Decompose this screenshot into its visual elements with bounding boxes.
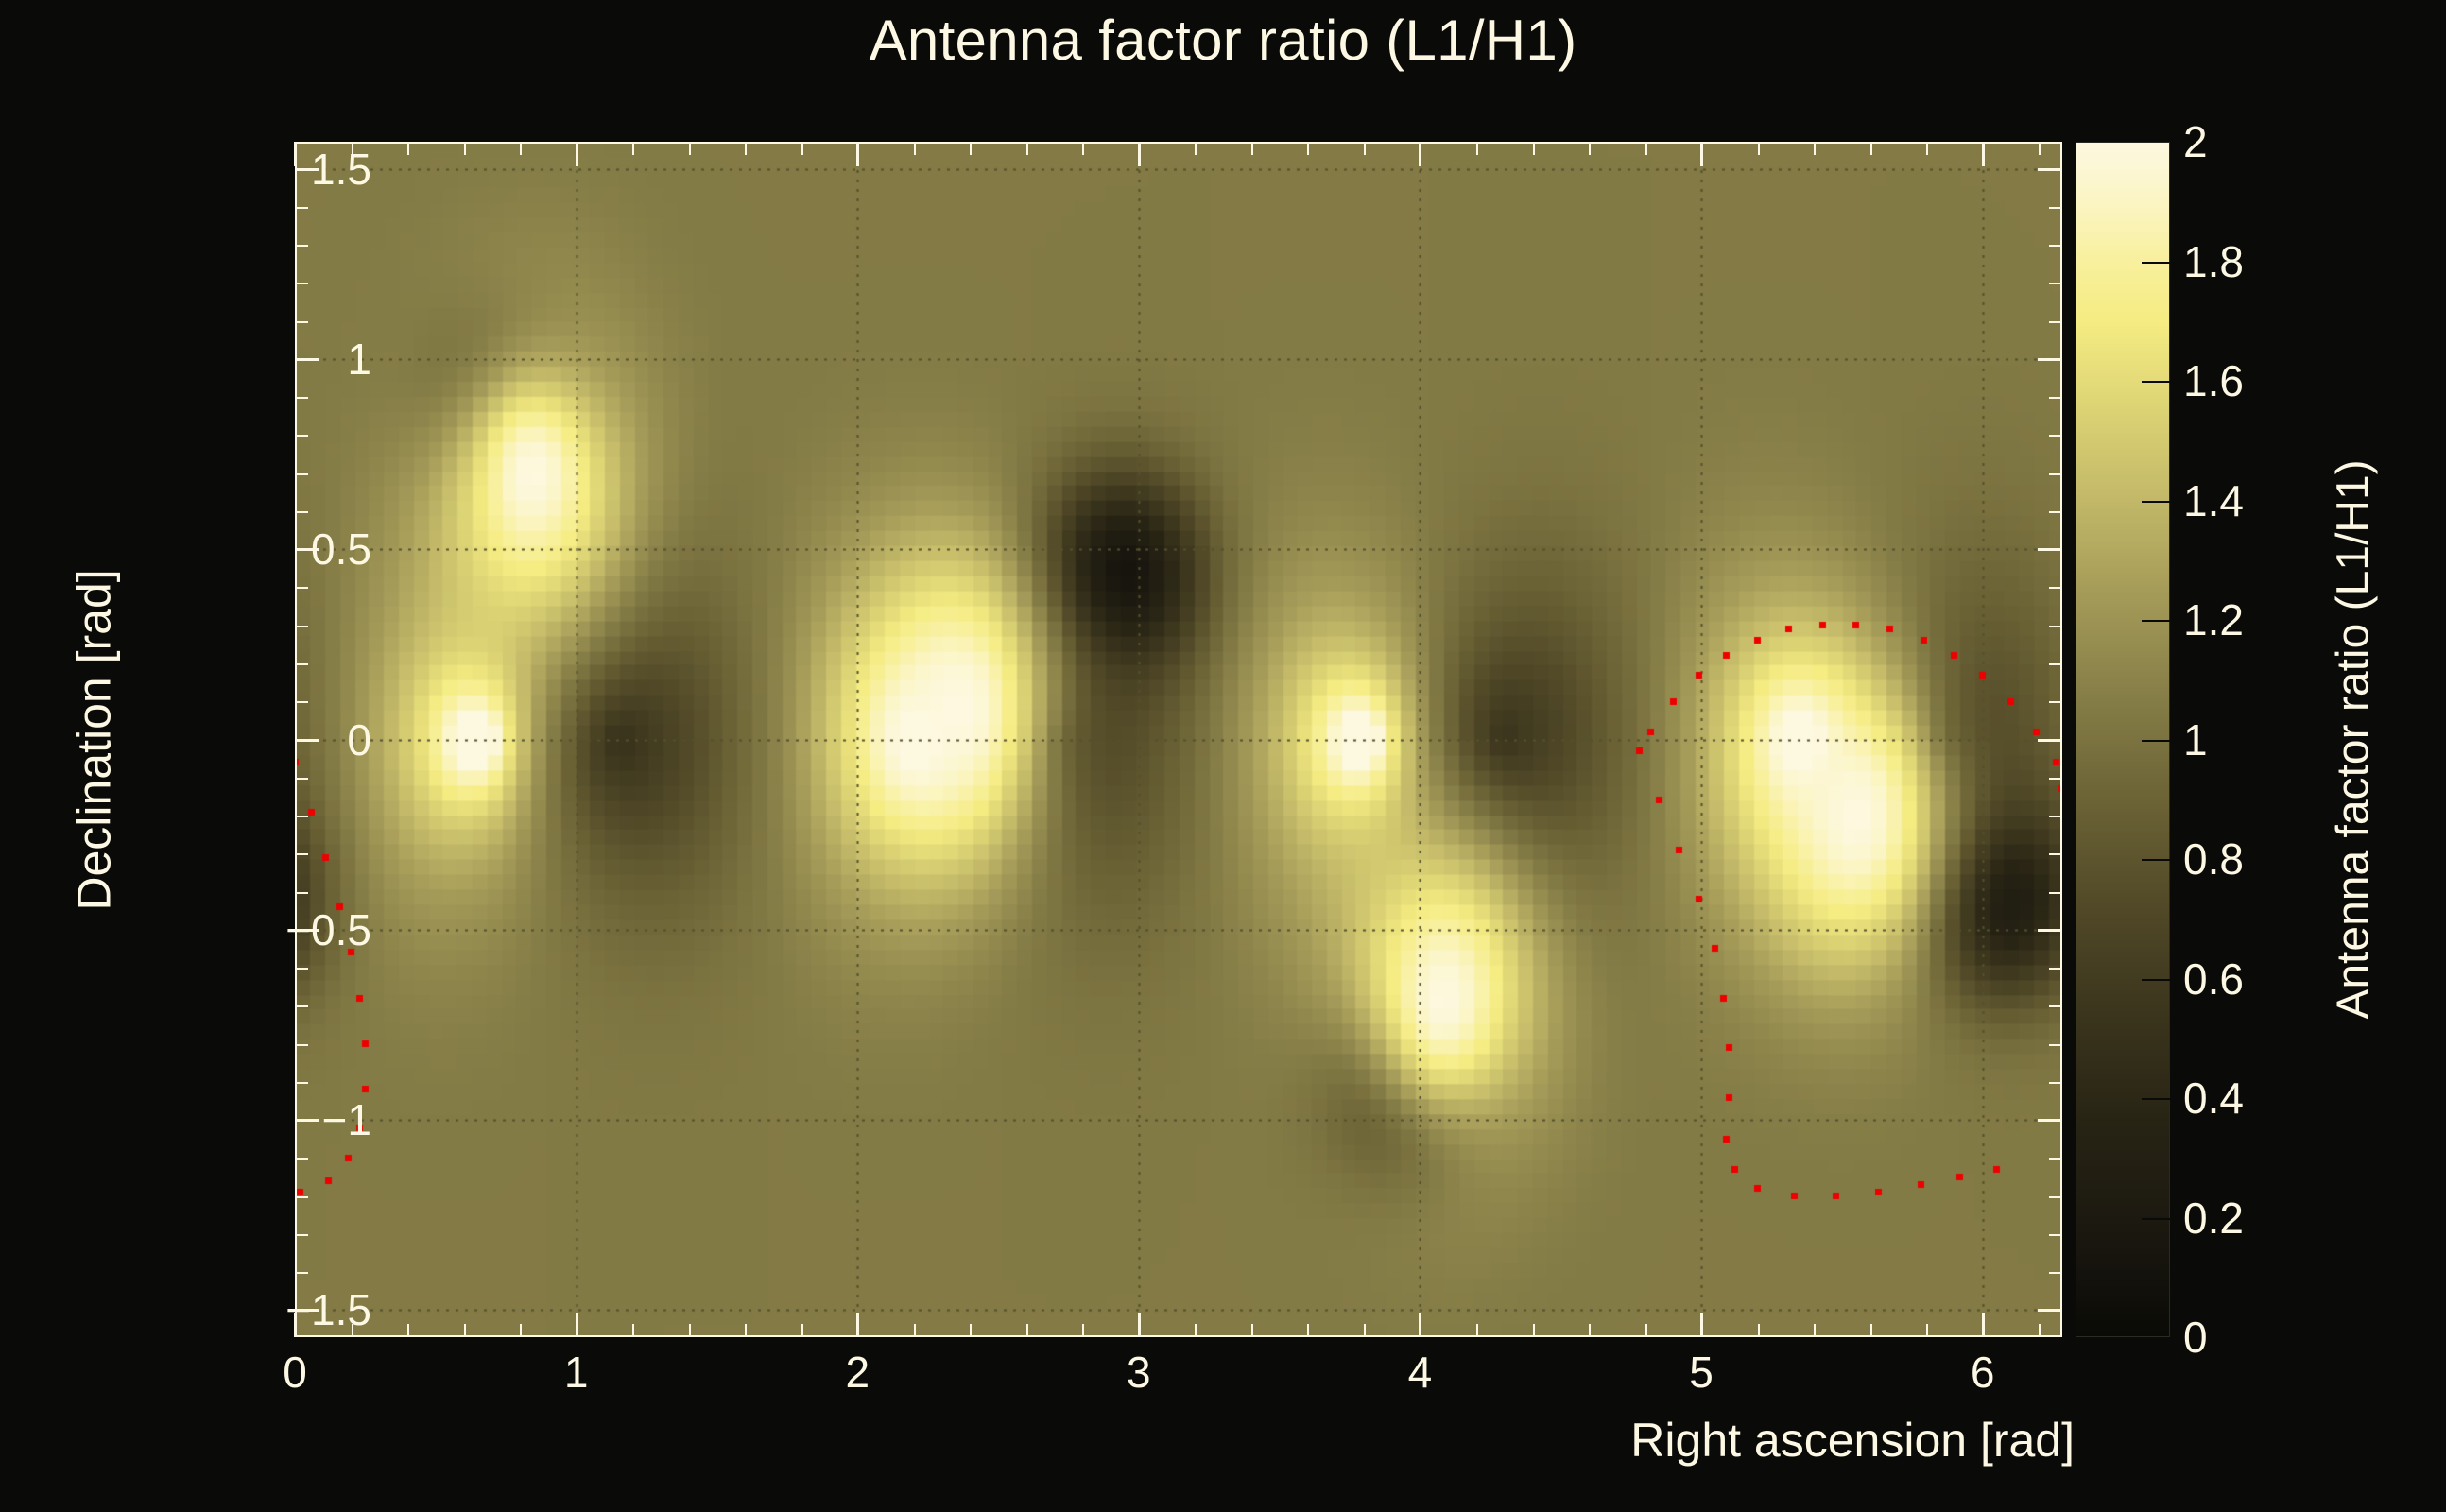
x-minor-tick-top — [1476, 142, 1478, 155]
y-minor-tick — [295, 435, 308, 437]
x-minor-tick-top — [1082, 142, 1084, 155]
x-minor-tick-top — [2039, 142, 2041, 155]
x-tick-label: 3 — [1127, 1347, 1151, 1398]
y-minor-tick — [295, 283, 308, 284]
x-minor-tick — [464, 1324, 466, 1337]
y-major-tick — [295, 358, 319, 361]
heatmap-plot-area[interactable] — [295, 142, 2062, 1337]
x-minor-tick-top — [352, 142, 353, 155]
x-minor-tick — [407, 1324, 409, 1337]
y-minor-tick — [295, 1082, 308, 1084]
x-minor-tick — [520, 1324, 522, 1337]
y-major-tick — [295, 168, 319, 171]
y-tick-label: 1 — [347, 334, 371, 385]
y-minor-tick-right — [2049, 511, 2062, 513]
x-minor-tick-top — [520, 142, 522, 155]
x-minor-tick-top — [745, 142, 747, 155]
overlay-curve-markers — [295, 142, 2062, 1337]
colorbar-tick-mark — [2142, 1218, 2170, 1220]
colorbar-title: Antenna factor ratio (L1/H1) — [2325, 142, 2382, 1337]
y-minor-tick — [295, 321, 308, 323]
x-minor-tick-top — [1251, 142, 1253, 155]
y-minor-tick — [295, 1196, 308, 1198]
x-minor-tick — [1758, 1324, 1760, 1337]
y-major-tick-right — [2038, 1119, 2062, 1122]
y-axis-title-label: Declination [rad] — [67, 569, 122, 910]
y-minor-tick — [295, 701, 308, 703]
y-major-tick-right — [2038, 168, 2062, 171]
y-minor-tick — [295, 1272, 308, 1274]
y-minor-tick-right — [2049, 626, 2062, 627]
x-minor-tick-top — [1195, 142, 1197, 155]
x-minor-tick — [1870, 1324, 1872, 1337]
y-tick-label: 1.5 — [311, 144, 371, 195]
x-major-tick-top — [576, 142, 578, 166]
y-minor-tick-right — [2049, 663, 2062, 665]
x-minor-tick-top — [632, 142, 634, 155]
x-tick-label: 6 — [1971, 1347, 1995, 1398]
colorbar-tick-mark — [2142, 1098, 2170, 1100]
x-major-tick — [1700, 1313, 1703, 1337]
x-tick-label: 1 — [564, 1347, 589, 1398]
y-minor-tick — [295, 816, 308, 817]
x-tick-label: 0 — [283, 1347, 307, 1398]
y-major-tick — [295, 548, 319, 551]
x-minor-tick-top — [1589, 142, 1591, 155]
y-minor-tick-right — [2049, 473, 2062, 475]
x-minor-tick — [745, 1324, 747, 1337]
x-minor-tick-top — [1870, 142, 1872, 155]
x-major-tick-top — [1138, 142, 1141, 166]
x-minor-tick — [1645, 1324, 1647, 1337]
y-minor-tick — [295, 587, 308, 589]
x-major-tick-top — [856, 142, 859, 166]
colorbar-tick-label: 2 — [2183, 116, 2208, 167]
y-minor-tick — [295, 663, 308, 665]
colorbar-tick-label: 0.2 — [2183, 1193, 2244, 1244]
y-major-tick — [295, 1309, 319, 1312]
colorbar-tick-label: 0 — [2183, 1312, 2208, 1363]
x-major-tick-top — [1700, 142, 1703, 166]
x-minor-tick-top — [801, 142, 803, 155]
x-minor-tick — [632, 1324, 634, 1337]
colorbar-tick-label: 1.6 — [2183, 355, 2244, 406]
y-minor-tick-right — [2049, 1158, 2062, 1160]
y-minor-tick — [295, 778, 308, 780]
colorbar-tick-mark — [2142, 740, 2170, 742]
y-minor-tick-right — [2049, 207, 2062, 209]
x-minor-tick — [1533, 1324, 1535, 1337]
x-minor-tick-top — [970, 142, 972, 155]
x-minor-tick — [1589, 1324, 1591, 1337]
y-minor-tick-right — [2049, 1272, 2062, 1274]
x-minor-tick-top — [1533, 142, 1535, 155]
x-minor-tick-top — [1307, 142, 1309, 155]
y-minor-tick-right — [2049, 397, 2062, 399]
x-minor-tick-top — [1926, 142, 1928, 155]
y-tick-label: −1 — [322, 1094, 371, 1145]
colorbar-tick-mark — [2142, 381, 2170, 383]
y-minor-tick-right — [2049, 1234, 2062, 1236]
x-minor-tick-top — [1364, 142, 1366, 155]
y-minor-tick-right — [2049, 853, 2062, 855]
y-minor-tick-right — [2049, 968, 2062, 970]
y-tick-label: 0 — [347, 714, 371, 765]
x-tick-label: 2 — [845, 1347, 870, 1398]
x-major-tick-top — [1982, 142, 1985, 166]
y-minor-tick-right — [2049, 587, 2062, 589]
y-minor-tick-right — [2049, 435, 2062, 437]
x-minor-tick-top — [1814, 142, 1816, 155]
chart-root: Antenna factor ratio (L1/H1) Declination… — [0, 0, 2446, 1512]
y-minor-tick-right — [2049, 1082, 2062, 1084]
colorbar-tick-label: 0.4 — [2183, 1073, 2244, 1124]
x-minor-tick-top — [1026, 142, 1028, 155]
colorbar-tick-mark — [2142, 859, 2170, 861]
y-major-tick — [295, 1119, 319, 1122]
y-minor-tick-right — [2049, 321, 2062, 323]
x-minor-tick — [1364, 1324, 1366, 1337]
x-major-tick-top — [294, 142, 297, 166]
x-tick-label: 4 — [1408, 1347, 1433, 1398]
x-minor-tick-top — [1758, 142, 1760, 155]
x-minor-tick — [801, 1324, 803, 1337]
x-major-tick — [1419, 1313, 1421, 1337]
x-minor-tick — [1195, 1324, 1197, 1337]
x-minor-tick — [1251, 1324, 1253, 1337]
x-minor-tick — [1307, 1324, 1309, 1337]
y-minor-tick-right — [2049, 892, 2062, 894]
x-minor-tick — [1026, 1324, 1028, 1337]
y-minor-tick — [295, 626, 308, 627]
x-minor-tick — [2039, 1324, 2041, 1337]
y-minor-tick — [295, 511, 308, 513]
y-minor-tick — [295, 1158, 308, 1160]
y-minor-tick-right — [2049, 1196, 2062, 1198]
x-major-tick-top — [1419, 142, 1421, 166]
y-minor-tick — [295, 473, 308, 475]
y-major-tick-right — [2038, 739, 2062, 742]
colorbar-tick-label: 1.8 — [2183, 236, 2244, 287]
y-minor-tick — [295, 1044, 308, 1046]
y-minor-tick — [295, 207, 308, 209]
y-minor-tick — [295, 892, 308, 894]
colorbar-tick-label: 0.6 — [2183, 954, 2244, 1005]
y-tick-label: 0.5 — [311, 524, 371, 575]
colorbar-tick-mark — [2142, 262, 2170, 264]
y-minor-tick-right — [2049, 816, 2062, 817]
x-minor-tick-top — [689, 142, 691, 155]
y-minor-tick — [295, 1234, 308, 1236]
y-major-tick — [295, 739, 319, 742]
page-title: Antenna factor ratio (L1/H1) — [0, 8, 2446, 73]
y-minor-tick-right — [2049, 1005, 2062, 1007]
x-major-tick — [1138, 1313, 1141, 1337]
x-minor-tick — [970, 1324, 972, 1337]
y-minor-tick-right — [2049, 1044, 2062, 1046]
y-minor-tick-right — [2049, 283, 2062, 284]
colorbar-tick-mark — [2142, 620, 2170, 622]
y-major-tick-right — [2038, 358, 2062, 361]
x-minor-tick — [689, 1324, 691, 1337]
y-axis-title: Declination [rad] — [66, 142, 123, 1337]
x-minor-tick — [1926, 1324, 1928, 1337]
y-minor-tick — [295, 853, 308, 855]
x-major-tick — [1982, 1313, 1985, 1337]
colorbar-tick-label: 1 — [2183, 714, 2208, 765]
colorbar-tick-label: 1.2 — [2183, 594, 2244, 645]
colorbar-tick-mark — [2142, 979, 2170, 981]
y-major-tick-right — [2038, 929, 2062, 932]
y-minor-tick — [295, 245, 308, 247]
x-major-tick — [576, 1313, 578, 1337]
x-major-tick — [294, 1313, 297, 1337]
y-major-tick-right — [2038, 1309, 2062, 1312]
y-minor-tick — [295, 1005, 308, 1007]
colorbar-tick-mark — [2142, 501, 2170, 503]
y-minor-tick-right — [2049, 778, 2062, 780]
x-minor-tick — [1082, 1324, 1084, 1337]
y-minor-tick-right — [2049, 245, 2062, 247]
y-major-tick — [295, 929, 319, 932]
x-axis-title: Right ascension [rad] — [0, 1413, 2108, 1468]
x-tick-label: 5 — [1689, 1347, 1714, 1398]
x-major-tick — [856, 1313, 859, 1337]
y-minor-tick-right — [2049, 701, 2062, 703]
x-minor-tick — [914, 1324, 916, 1337]
colorbar-tick-label: 1.4 — [2183, 475, 2244, 526]
x-minor-tick-top — [407, 142, 409, 155]
y-major-tick-right — [2038, 548, 2062, 551]
y-minor-tick — [295, 397, 308, 399]
colorbar-tick-label: 0.8 — [2183, 833, 2244, 885]
x-minor-tick-top — [1645, 142, 1647, 155]
x-minor-tick — [1814, 1324, 1816, 1337]
x-minor-tick — [1476, 1324, 1478, 1337]
colorbar-title-label: Antenna factor ratio (L1/H1) — [2328, 459, 2380, 1019]
x-minor-tick-top — [464, 142, 466, 155]
x-minor-tick — [352, 1324, 353, 1337]
x-minor-tick-top — [914, 142, 916, 155]
y-minor-tick — [295, 968, 308, 970]
